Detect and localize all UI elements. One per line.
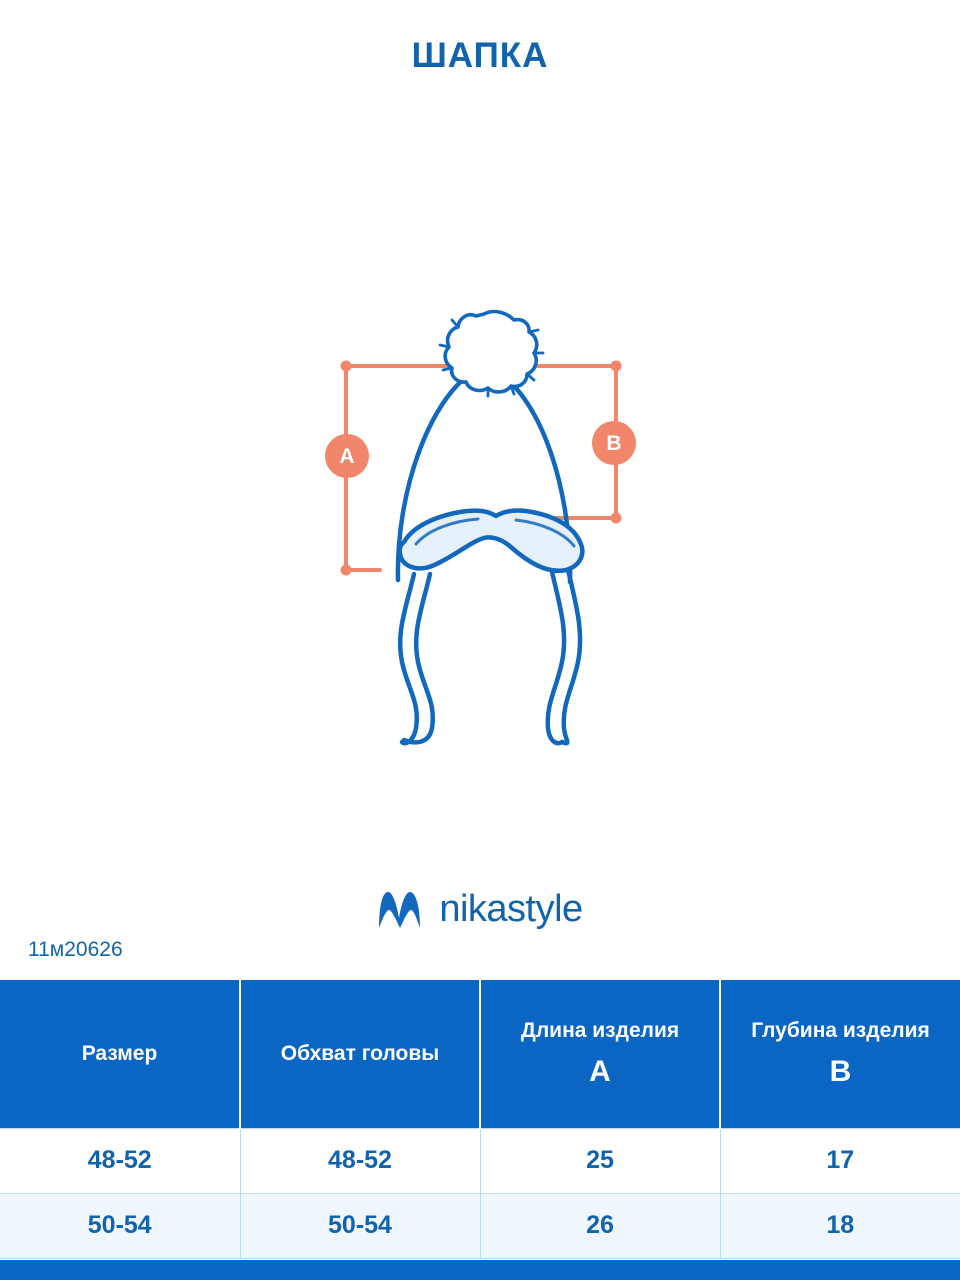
cell-head-circumference: 48-52 — [240, 1128, 480, 1193]
cell-head-circumference: 50-54 — [240, 1193, 480, 1258]
cell-size: 48-52 — [0, 1128, 240, 1193]
measure-badge-a: A — [325, 434, 369, 478]
cell-size: 50-54 — [0, 1193, 240, 1258]
size-table: Размер Обхват головы Длина изделия A Глу… — [0, 980, 960, 1259]
cell-depth: 17 — [720, 1128, 960, 1193]
column-header-length: Длина изделия A — [480, 980, 720, 1128]
column-header-depth-letter: B — [729, 1055, 952, 1089]
hat-ties — [400, 570, 580, 743]
brand-name: nikastyle — [439, 888, 582, 931]
table-header-row: Размер Обхват головы Длина изделия A Глу… — [0, 980, 960, 1128]
hat-illustration — [280, 290, 680, 770]
measure-badge-b: B — [592, 421, 636, 465]
cell-length: 26 — [480, 1193, 720, 1258]
column-header-size: Размер — [0, 980, 240, 1128]
nikastyle-wave-mark-icon — [377, 890, 423, 930]
column-header-length-label: Длина изделия — [521, 1019, 679, 1042]
size-chart-page: ШАПКА — [0, 0, 960, 1280]
page-title: ШАПКА — [0, 36, 960, 76]
column-header-size-label: Размер — [82, 1042, 158, 1065]
table-row: 50-54 50-54 26 18 — [0, 1193, 960, 1258]
brand-logo: nikastyle — [0, 888, 960, 931]
cell-depth: 18 — [720, 1193, 960, 1258]
column-header-length-letter: A — [489, 1055, 711, 1089]
bottom-accent-bar — [0, 1260, 960, 1280]
column-header-head-circumference-label: Обхват головы — [281, 1042, 439, 1065]
article-code: 11м20626 — [28, 938, 123, 962]
column-header-head-circumference: Обхват головы — [240, 980, 480, 1128]
table-row: 48-52 48-52 25 17 — [0, 1128, 960, 1193]
column-header-depth-label: Глубина изделия — [751, 1019, 930, 1042]
hat-brim — [400, 511, 583, 571]
pompom-icon — [440, 312, 543, 396]
cell-length: 25 — [480, 1128, 720, 1193]
column-header-depth: Глубина изделия B — [720, 980, 960, 1128]
